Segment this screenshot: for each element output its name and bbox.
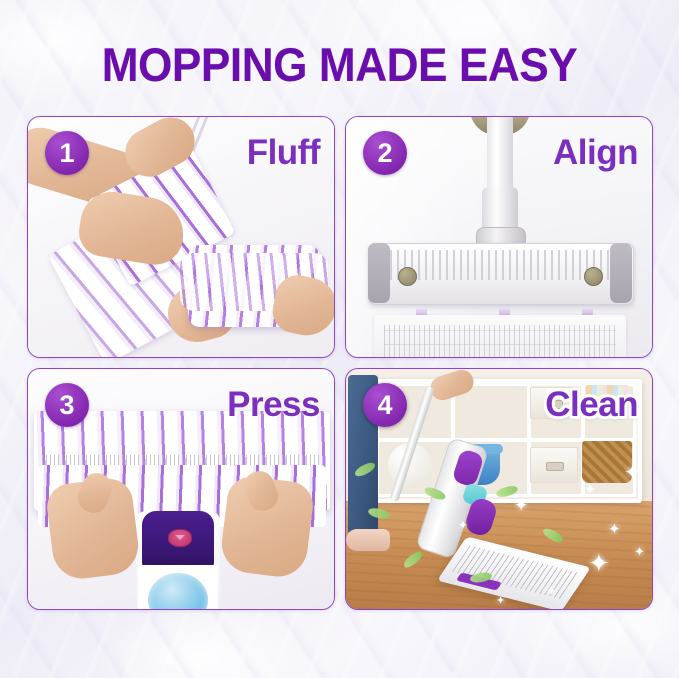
step-panel-fluff[interactable]: 1 Fluff [27, 116, 335, 358]
mop-head-cap-left [368, 243, 390, 303]
step-number-badge: 3 [45, 383, 89, 427]
step-panel-align[interactable]: 2 Align [345, 116, 653, 358]
person-shoe [346, 529, 390, 551]
step-number-badge: 2 [363, 131, 407, 175]
sparkle-icon: ✦ [514, 497, 528, 514]
sparkle-icon: ✦ [458, 517, 468, 534]
page-title: MOPPING MADE EASY [20, 36, 658, 94]
step-panel-clean[interactable]: ✦ ✦ ✦ ✦ ✦ ✦ ✦ ✦ ✦ 4 Clean [345, 368, 653, 610]
gripper-button-right [584, 267, 603, 286]
step-label-press: Press [227, 385, 320, 425]
sparkle-icon: ✦ [546, 583, 556, 600]
sparkle-icon: ✦ [496, 593, 505, 609]
sparkle-icon: ✦ [634, 543, 645, 560]
cleaning-pad [374, 315, 626, 358]
mop-head-cap-right [610, 243, 632, 303]
step-number-badge: 1 [45, 131, 89, 175]
sparkle-icon: ✦ [624, 465, 641, 482]
sparkle-icon: ✦ [608, 521, 621, 538]
step-label-fluff: Fluff [247, 133, 320, 173]
mop-handle [487, 116, 513, 197]
step-panel-press[interactable]: 3 Press [27, 368, 335, 610]
step-number-badge: 4 [363, 383, 407, 427]
sparkle-icon: ✦ [588, 555, 610, 572]
sparkle-icon: ✦ [584, 481, 596, 498]
step-label-align: Align [553, 133, 638, 173]
storage-box [530, 447, 578, 483]
steps-grid: 1 Fluff 2 Ali [27, 116, 653, 628]
infographic-root: MOPPING MADE EASY 1 Fluff [0, 0, 679, 678]
spray-trigger-button [168, 529, 192, 547]
gripper-button-left [398, 267, 417, 286]
step-label-clean: Clean [545, 385, 638, 425]
